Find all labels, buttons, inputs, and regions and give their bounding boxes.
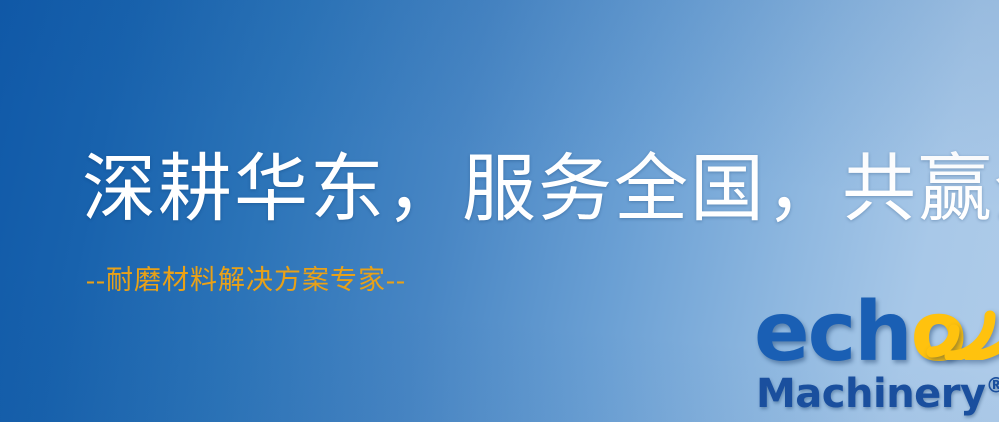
hero-banner: 深耕华东，服务全国，共赢全球 --耐磨材料解决方案专家-- echo Machi… — [0, 0, 999, 422]
registered-trademark-icon: ® — [986, 374, 999, 398]
company-logo: echo Machinery® — [748, 296, 999, 422]
logo-tagline: Machinery® — [756, 374, 999, 414]
logo-echo-prefix: ech — [754, 285, 911, 380]
signal-waves-icon — [924, 294, 999, 360]
page-title: 深耕华东，服务全国，共赢全球 — [82, 153, 999, 227]
logo-wordmark: echo Machinery® — [748, 296, 999, 422]
logo-tagline-text: Machinery — [756, 371, 986, 417]
page-subtitle: --耐磨材料解决方案专家-- — [86, 267, 406, 294]
